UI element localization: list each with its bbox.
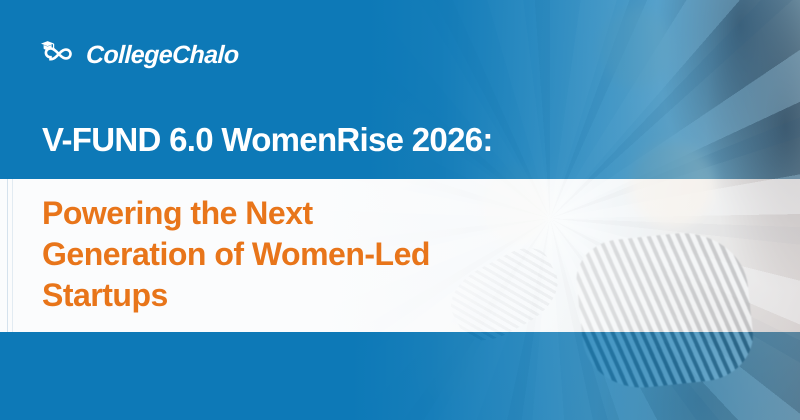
band-accent-lines — [0, 179, 26, 332]
bottom-blue-band — [0, 332, 800, 420]
subheadline-line-2: Generation of Women-Led — [42, 234, 430, 275]
banner-subheadline: Powering the Next Generation of Women-Le… — [42, 193, 430, 316]
logo-wordmark: CollegeChalo — [86, 43, 239, 68]
banner-headline: V-FUND 6.0 WomenRise 2026: — [42, 122, 493, 159]
promo-banner: CollegeChalo V-FUND 6.0 WomenRise 2026: … — [0, 0, 800, 420]
collegechalo-logo[interactable]: CollegeChalo — [38, 38, 239, 73]
graduation-cap-infinity-icon — [38, 38, 80, 73]
subheadline-line-3: Startups — [42, 275, 430, 316]
subheadline-line-1: Powering the Next — [42, 193, 430, 234]
